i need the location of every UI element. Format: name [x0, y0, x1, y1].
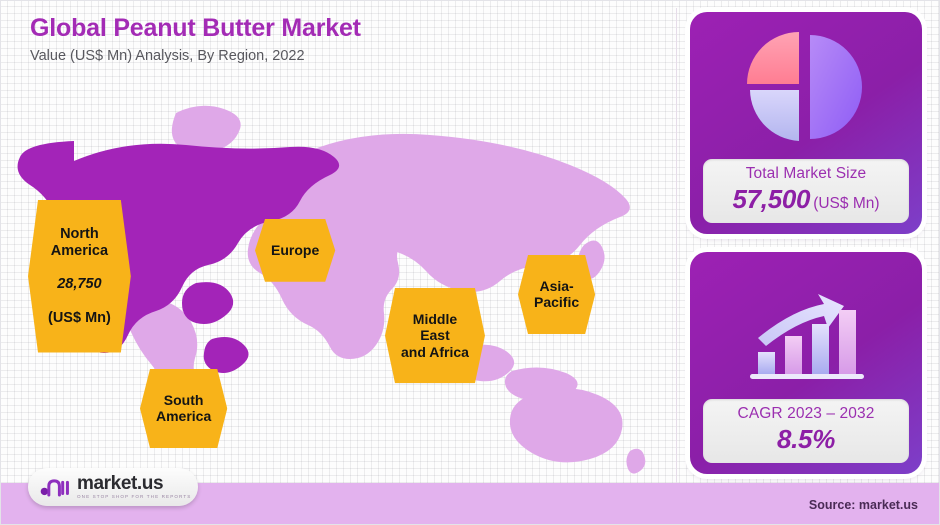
market-us-logo-icon — [40, 475, 70, 499]
cagr-box: CAGR 2023 – 2032 8.5% — [703, 399, 909, 463]
card-total-market-size: Total Market Size 57,500(US$ Mn) — [690, 12, 922, 234]
cagr-value: 8.5% — [777, 424, 835, 454]
cagr-label: CAGR 2023 – 2032 — [707, 405, 905, 423]
infographic-page: Global Peanut Butter Market Value (US$ M… — [0, 0, 940, 525]
map-tag-asia-pacific[interactable]: Asia- Pacific — [518, 255, 595, 334]
total-market-size-value: 57,500 — [732, 184, 810, 214]
page-title: Global Peanut Butter Market — [30, 14, 361, 43]
pie-chart-icon — [746, 27, 866, 145]
map-tag-middle-east-and-africa-name: Middle East and Africa — [401, 311, 469, 360]
total-market-size-box: Total Market Size 57,500(US$ Mn) — [703, 159, 909, 223]
map-tag-north-america-value: 28,750 — [48, 276, 111, 293]
map-tag-middle-east-and-africa[interactable]: Middle East and Africa — [385, 288, 485, 383]
page-subtitle: Value (US$ Mn) Analysis, By Region, 2022 — [30, 48, 361, 64]
map-tag-europe-name: Europe — [271, 242, 319, 258]
source-label: Source: market.us — [809, 498, 918, 512]
map-tag-south-america[interactable]: South America — [140, 369, 227, 448]
map-tag-europe[interactable]: Europe — [255, 219, 335, 282]
map-tag-north-america-unit: (US$ Mn) — [48, 310, 111, 327]
map-tag-asia-pacific-name: Asia- Pacific — [534, 278, 579, 310]
cagr-value-row: 8.5% — [707, 424, 905, 455]
map-tag-north-america[interactable]: North America 28,750 (US$ Mn) — [28, 200, 131, 353]
logo-text: market.us ONE STOP SHOP FOR THE REPORTS — [77, 474, 191, 500]
total-market-size-value-row: 57,500(US$ Mn) — [707, 184, 905, 215]
card-cagr: CAGR 2023 – 2032 8.5% — [690, 252, 922, 474]
header: Global Peanut Butter Market Value (US$ M… — [30, 14, 361, 64]
growth-bar-chart-icon-wrap — [690, 252, 922, 399]
growth-bar-chart-icon — [736, 266, 876, 386]
map-tag-south-america-name: South America — [156, 392, 211, 424]
total-market-size-label: Total Market Size — [707, 165, 905, 183]
total-market-size-unit: (US$ Mn) — [813, 195, 879, 212]
panel-divider — [676, 8, 677, 488]
logo-tagline: ONE STOP SHOP FOR THE REPORTS — [77, 495, 191, 500]
pie-chart-icon-wrap — [690, 12, 922, 159]
logo-name: market.us — [77, 474, 191, 493]
logo[interactable]: market.us ONE STOP SHOP FOR THE REPORTS — [28, 468, 198, 506]
map-tag-north-america-name: North America — [48, 226, 111, 260]
